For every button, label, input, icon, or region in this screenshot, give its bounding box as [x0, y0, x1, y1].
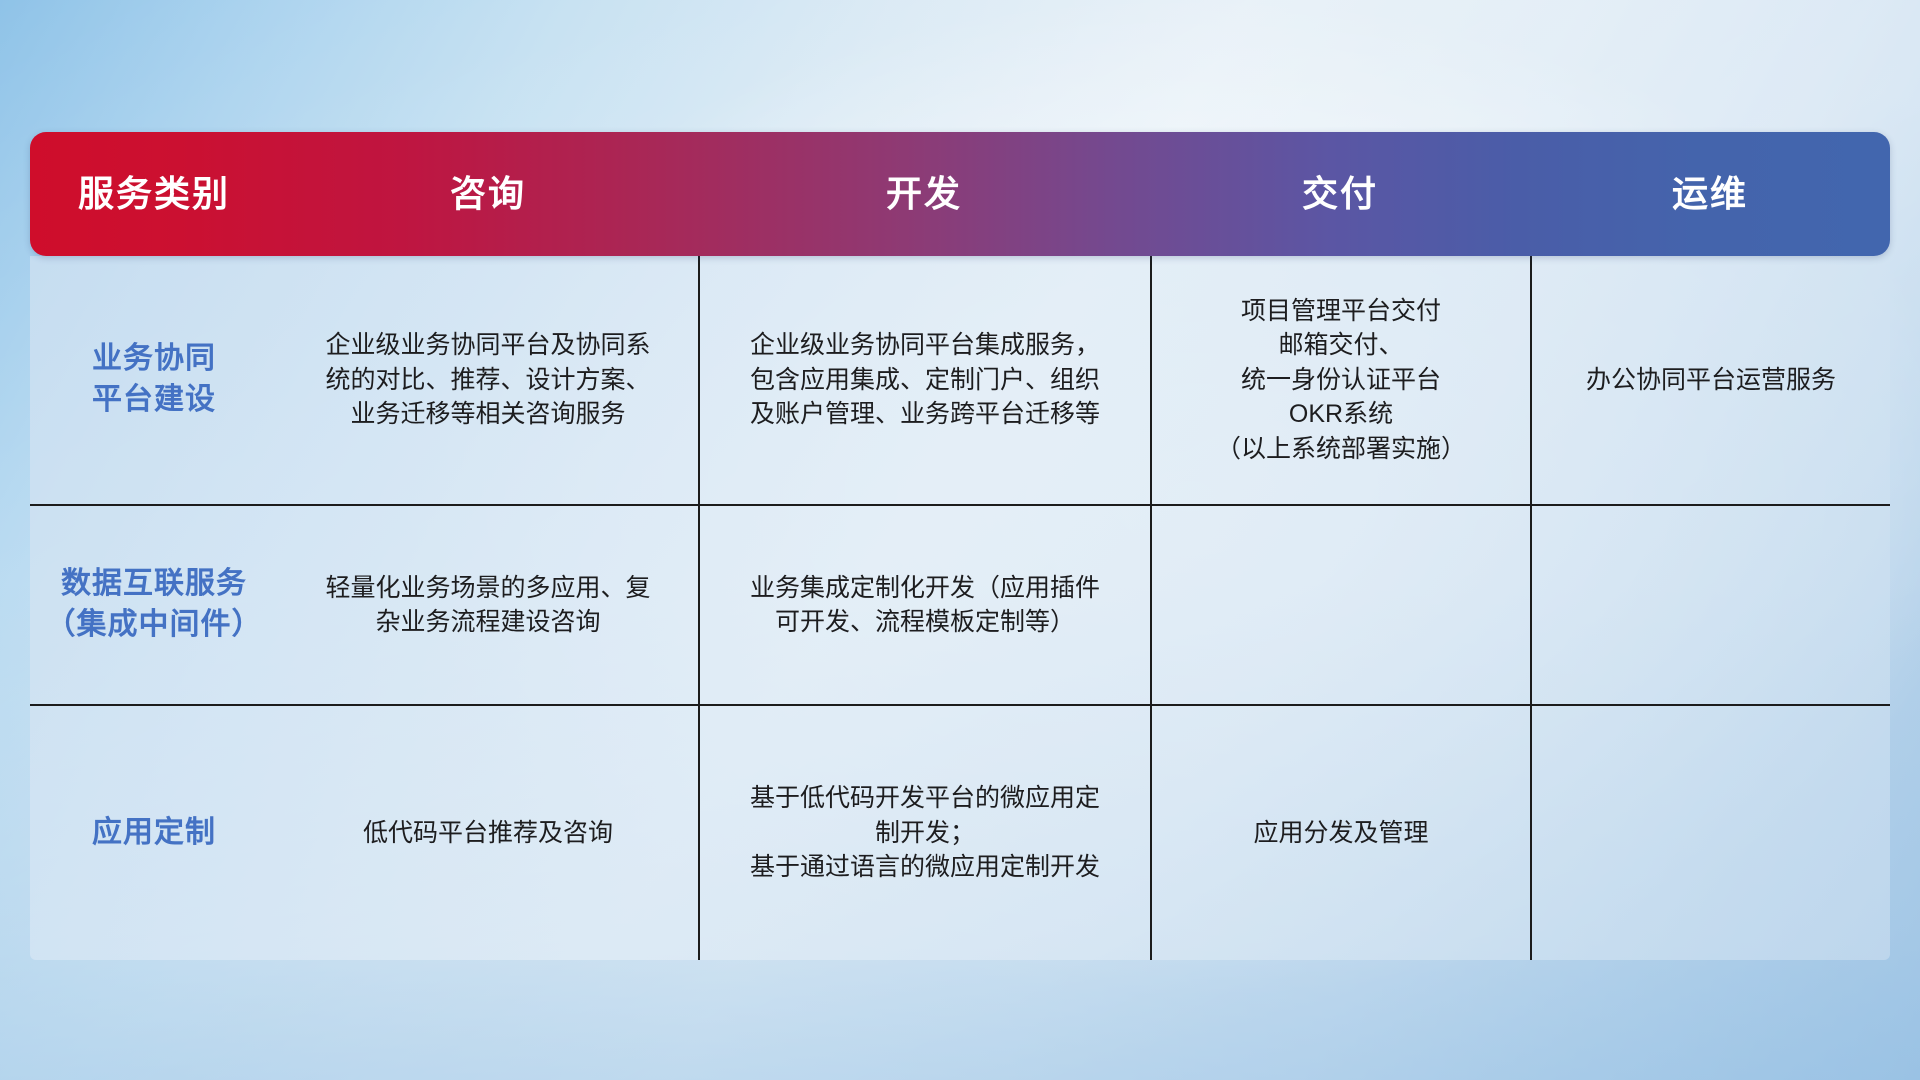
- cell-operations-row3: [1530, 706, 1890, 960]
- row-label-app-customization: 应用定制: [30, 706, 278, 960]
- cell-consulting-row1: 企业级业务协同平台及协同系 统的对比、推荐、设计方案、 业务迁移等相关咨询服务: [278, 256, 698, 504]
- table-header-row: 服务类别 咨询 开发 交付 运维: [30, 132, 1890, 256]
- cell-development-row1: 企业级业务协同平台集成服务， 包含应用集成、定制门户、组织 及账户管理、业务跨平…: [698, 256, 1150, 504]
- table-row: 业务协同 平台建设 企业级业务协同平台及协同系 统的对比、推荐、设计方案、 业务…: [30, 256, 1890, 504]
- cell-development-row3: 基于低代码开发平台的微应用定 制开发； 基于通过语言的微应用定制开发: [698, 706, 1150, 960]
- cell-delivery-row3: 应用分发及管理: [1150, 706, 1530, 960]
- cell-delivery-row1: 项目管理平台交付 邮箱交付、 统一身份认证平台 OKR系统 （以上系统部署实施）: [1150, 256, 1530, 504]
- slide-stage: 服务类别 咨询 开发 交付 运维 业务协同 平台建设 企业级业务协同平台及协同系…: [0, 0, 1920, 1080]
- cell-operations-row2: [1530, 506, 1890, 704]
- column-header-consulting: 咨询: [278, 176, 698, 212]
- row-label-business-collaboration: 业务协同 平台建设: [30, 256, 278, 504]
- table-row: 数据互联服务 （集成中间件） 轻量化业务场景的多应用、复 杂业务流程建设咨询 业…: [30, 504, 1890, 704]
- service-matrix-table: 服务类别 咨询 开发 交付 运维 业务协同 平台建设 企业级业务协同平台及协同系…: [30, 132, 1890, 960]
- table-body: 业务协同 平台建设 企业级业务协同平台及协同系 统的对比、推荐、设计方案、 业务…: [30, 256, 1890, 960]
- column-header-delivery: 交付: [1150, 176, 1530, 212]
- cell-consulting-row2: 轻量化业务场景的多应用、复 杂业务流程建设咨询: [278, 506, 698, 704]
- column-header-development: 开发: [698, 176, 1150, 212]
- row-label-data-integration: 数据互联服务 （集成中间件）: [30, 506, 278, 704]
- cell-operations-row1: 办公协同平台运营服务: [1530, 256, 1890, 504]
- column-header-operations: 运维: [1530, 176, 1890, 212]
- table-row: 应用定制 低代码平台推荐及咨询 基于低代码开发平台的微应用定 制开发； 基于通过…: [30, 704, 1890, 960]
- cell-delivery-row2: [1150, 506, 1530, 704]
- column-header-category: 服务类别: [30, 176, 278, 212]
- cell-development-row2: 业务集成定制化开发（应用插件 可开发、流程模板定制等）: [698, 506, 1150, 704]
- cell-consulting-row3: 低代码平台推荐及咨询: [278, 706, 698, 960]
